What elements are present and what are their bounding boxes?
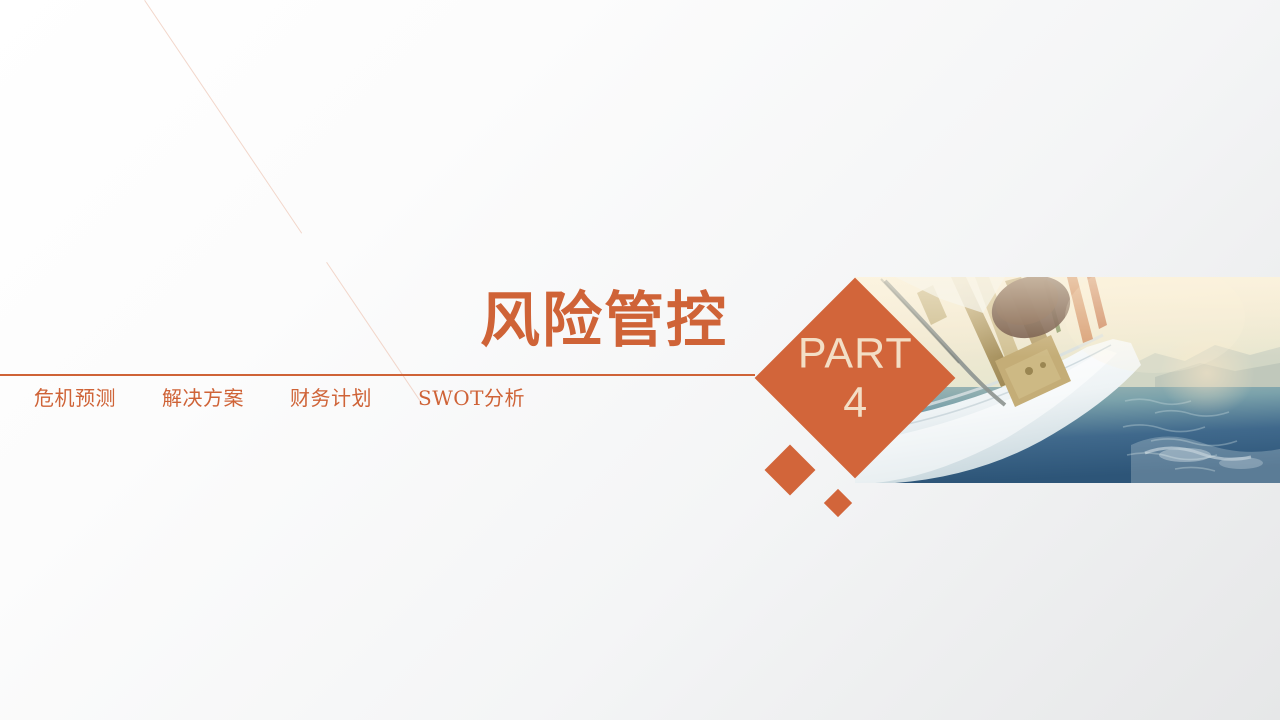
nav-item-financial-plan[interactable]: 财务计划	[290, 386, 372, 410]
part-badge-text: PART 4	[798, 332, 913, 424]
presentation-slide: PART 4 风险管控 危机预测 解决方案 财务计划 SWOT分析	[0, 0, 1280, 720]
diagonal-hairline-lower	[326, 262, 421, 402]
diagonal-hairline-upper	[144, 0, 302, 234]
page-title: 风险管控	[480, 288, 728, 354]
part-number: 4	[798, 381, 913, 424]
nav-item-swot-analysis[interactable]: SWOT分析	[418, 386, 525, 410]
accent-diamond-medium	[765, 445, 816, 496]
nav-item-solution[interactable]: 解决方案	[162, 386, 244, 410]
nav-item-crisis-forecast[interactable]: 危机预测	[34, 386, 116, 410]
part-label: PART	[798, 332, 913, 375]
accent-diamond-small	[824, 489, 852, 517]
agenda-nav: 危机预测 解决方案 财务计划 SWOT分析	[34, 386, 525, 410]
horizontal-accent-rule	[0, 374, 755, 376]
